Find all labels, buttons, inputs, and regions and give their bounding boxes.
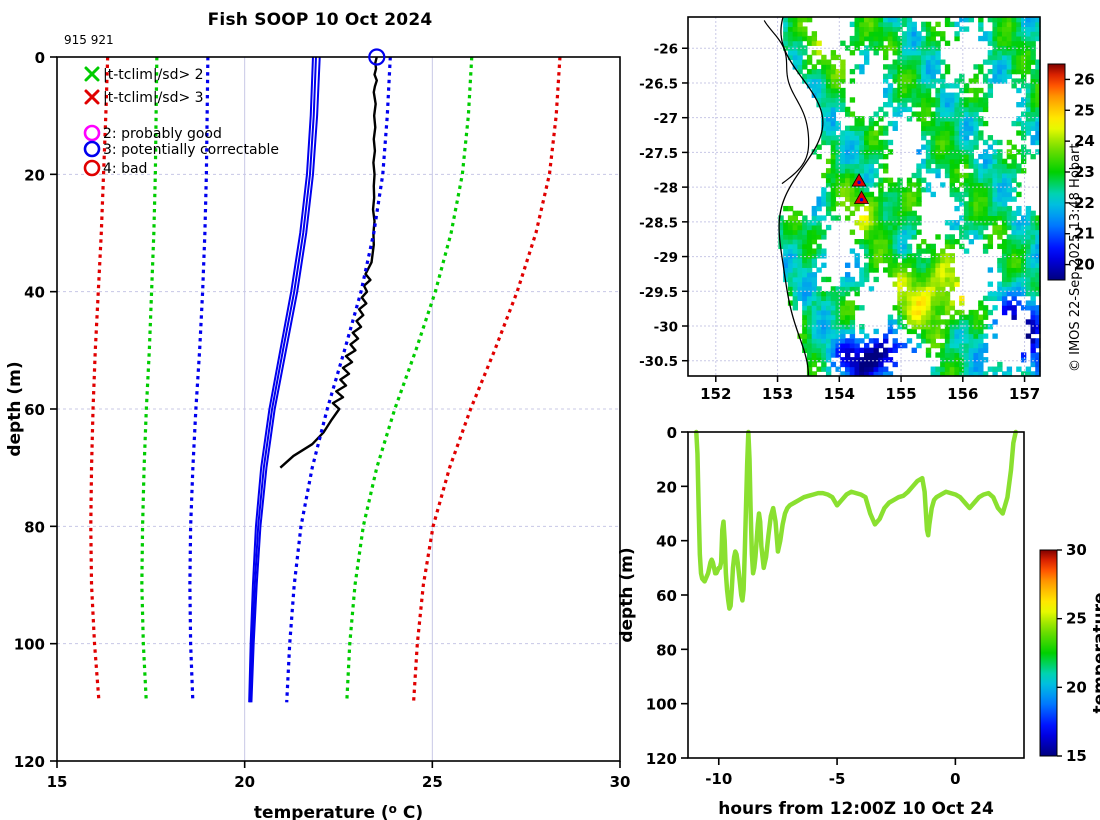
sst-pixel <box>945 244 950 249</box>
sst-pixel <box>916 36 921 41</box>
sst-pixel <box>916 253 921 258</box>
sst-pixel <box>783 36 788 41</box>
sst-pixel <box>883 26 888 31</box>
sst-pixel <box>921 286 926 291</box>
sst-pixel <box>854 206 859 211</box>
sst-pixel <box>797 220 802 225</box>
sst-pixel <box>902 187 907 192</box>
sst-pixel <box>940 277 945 282</box>
sst-pixel <box>783 239 788 244</box>
sst-pixel <box>807 348 812 353</box>
sst-pixel <box>916 244 921 249</box>
sst-pixel <box>807 41 812 46</box>
sst-pixel <box>1016 60 1021 65</box>
sst-pixel <box>835 310 840 315</box>
sst-pixel <box>969 310 974 315</box>
sst-pixel <box>854 352 859 357</box>
sst-pixel <box>1030 343 1035 348</box>
sst-pixel <box>888 211 893 216</box>
sst-pixel <box>912 201 917 206</box>
sst-pixel <box>954 367 959 372</box>
sst-pixel <box>1021 220 1026 225</box>
sst-pixel <box>883 258 888 263</box>
sst-pixel <box>988 244 993 249</box>
sst-pixel <box>874 367 879 372</box>
sst-pixel <box>835 296 840 301</box>
sst-pixel <box>878 154 883 159</box>
sst-pixel <box>1016 300 1021 305</box>
sst-pixel <box>983 178 988 183</box>
sst-pixel <box>959 352 964 357</box>
sst-pixel <box>821 315 826 320</box>
sst-pixel <box>950 220 955 225</box>
sst-pixel <box>888 178 893 183</box>
sst-pixel <box>1026 267 1031 272</box>
sst-pixel <box>797 239 802 244</box>
sst-pixel <box>893 230 898 235</box>
sst-pixel <box>1030 22 1035 27</box>
sst-pixel <box>883 74 888 79</box>
sst-pixel <box>940 130 945 135</box>
sst-pixel <box>912 97 917 102</box>
sst-pixel <box>988 163 993 168</box>
sst-pixel <box>988 310 993 315</box>
sst-pixel <box>988 88 993 93</box>
sst-pixel <box>835 168 840 173</box>
sst-pixel <box>840 135 845 140</box>
sst-pixel <box>897 178 902 183</box>
sst-pixel <box>926 310 931 315</box>
sst-pixel <box>926 159 931 164</box>
sst-pixel <box>831 55 836 60</box>
sst-pixel <box>950 343 955 348</box>
sst-pixel <box>874 41 879 46</box>
sst-pixel <box>921 126 926 131</box>
sst-pixel <box>988 41 993 46</box>
sst-pixel <box>935 296 940 301</box>
sst-pixel <box>964 206 969 211</box>
sst-map-panel: 152153154155156157-26-26.5-27-27.5-28-28… <box>620 0 1100 420</box>
sst-pixel <box>921 258 926 263</box>
sst-pixel <box>802 333 807 338</box>
sst-pixel <box>883 357 888 362</box>
sst-pixel <box>988 234 993 239</box>
sst-pixel <box>950 102 955 107</box>
sst-pixel <box>1021 234 1026 239</box>
sst-pixel <box>1007 206 1012 211</box>
sst-pixel <box>878 253 883 258</box>
sst-pixel <box>797 258 802 263</box>
sst-pixel <box>1002 197 1007 202</box>
sst-pixel <box>931 253 936 258</box>
sst-pixel <box>950 282 955 287</box>
sst-pixel <box>945 173 950 178</box>
sst-pixel <box>935 329 940 334</box>
sst-pixel <box>988 93 993 98</box>
sst-pixel <box>883 140 888 145</box>
sst-pixel <box>969 107 974 112</box>
sst-pixel <box>945 83 950 88</box>
sst-pixel <box>964 154 969 159</box>
sst-pixel <box>1007 258 1012 263</box>
sst-pixel <box>969 154 974 159</box>
sst-pixel <box>926 282 931 287</box>
sst-pixel <box>831 126 836 131</box>
sst-pixel <box>983 187 988 192</box>
sst-pixel <box>1026 36 1031 41</box>
sst-pixel <box>931 60 936 65</box>
sst-pixel <box>1030 348 1035 353</box>
sst-pixel <box>874 111 879 116</box>
sst-pixel <box>802 248 807 253</box>
sst-pixel <box>1026 230 1031 235</box>
sst-pixel <box>874 206 879 211</box>
sst-pixel <box>921 163 926 168</box>
sst-pixel <box>802 300 807 305</box>
sst-pixel <box>835 300 840 305</box>
sst-pixel <box>883 230 888 235</box>
sst-pixel <box>959 74 964 79</box>
sst-pixel <box>954 163 959 168</box>
sst-pixel <box>845 310 850 315</box>
sst-pixel <box>969 324 974 329</box>
sst-pixel <box>864 55 869 60</box>
sst-pixel <box>983 348 988 353</box>
sst-pixel <box>1007 168 1012 173</box>
sst-pixel <box>964 338 969 343</box>
sst-pixel <box>864 272 869 277</box>
sst-pixel <box>978 178 983 183</box>
sst-pixel <box>954 159 959 164</box>
sst-pixel <box>950 324 955 329</box>
sst-pixel <box>916 263 921 268</box>
sst-pixel <box>964 315 969 320</box>
station-marker-2-centre <box>860 198 863 201</box>
sst-pixel <box>964 192 969 197</box>
sst-pixel <box>883 102 888 107</box>
sst-pixel <box>897 225 902 230</box>
sst-pixel <box>831 315 836 320</box>
sst-pixel <box>840 97 845 102</box>
sst-pixel <box>826 300 831 305</box>
sst-pixel <box>826 173 831 178</box>
sst-pixel <box>840 296 845 301</box>
sst-pixel <box>1007 140 1012 145</box>
sst-pixel <box>845 329 850 334</box>
sst-pixel <box>854 22 859 27</box>
sst-pixel <box>950 272 955 277</box>
sst-pixel <box>1007 215 1012 220</box>
sst-pixel <box>797 60 802 65</box>
sst-pixel <box>854 163 859 168</box>
sst-pixel <box>959 121 964 126</box>
sst-pixel <box>826 305 831 310</box>
sst-pixel <box>926 111 931 116</box>
sst-pixel <box>859 159 864 164</box>
sst-pixel <box>997 154 1002 159</box>
sst-pixel <box>793 234 798 239</box>
sst-pixel <box>1002 258 1007 263</box>
sst-pixel <box>807 55 812 60</box>
sst-pixel <box>1030 111 1035 116</box>
sst-pixel <box>926 348 931 353</box>
sst-pixel <box>878 22 883 27</box>
sst-pixel <box>1030 286 1035 291</box>
sst-pixel <box>1002 22 1007 27</box>
sst-pixel <box>921 93 926 98</box>
sst-pixel <box>912 83 917 88</box>
sst-pixel <box>973 145 978 150</box>
sst-pixel <box>864 263 869 268</box>
sst-pixel <box>840 178 845 183</box>
sst-pixel <box>916 88 921 93</box>
sst-pixel <box>950 116 955 121</box>
sst-pixel <box>783 234 788 239</box>
sst-pixel <box>912 329 917 334</box>
sst-pixel <box>840 69 845 74</box>
sst-pixel <box>902 324 907 329</box>
sst-pixel <box>835 140 840 145</box>
sst-pixel <box>931 74 936 79</box>
sst-pixel <box>878 178 883 183</box>
sst-pixel <box>797 244 802 249</box>
sst-pixel <box>1002 277 1007 282</box>
sst-pixel <box>1016 88 1021 93</box>
sst-pixel <box>1026 263 1031 268</box>
sst-pixel <box>973 130 978 135</box>
sst-pixel <box>840 324 845 329</box>
sst-pixel <box>831 329 836 334</box>
sst-pixel <box>916 258 921 263</box>
sst-pixel <box>992 22 997 27</box>
sst-pixel <box>893 74 898 79</box>
sst-pixel <box>992 36 997 41</box>
sst-pixel <box>959 159 964 164</box>
sst-pixel <box>845 197 850 202</box>
sst-pixel <box>969 225 974 230</box>
sst-pixel <box>921 267 926 272</box>
sst-pixel <box>883 253 888 258</box>
sst-pixel <box>983 93 988 98</box>
sst-pixel <box>783 26 788 31</box>
sst-pixel <box>1016 286 1021 291</box>
sst-pixel <box>997 64 1002 69</box>
sst-pixel <box>826 168 831 173</box>
sst-pixel <box>859 324 864 329</box>
sst-pixel <box>788 272 793 277</box>
sst-pixel <box>940 126 945 131</box>
sst-pixel <box>969 111 974 116</box>
sst-pixel <box>1030 126 1035 131</box>
sst-pixel <box>874 173 879 178</box>
sst-pixel <box>935 93 940 98</box>
sst-pixel <box>859 168 864 173</box>
sst-pixel <box>850 277 855 282</box>
sst-pixel <box>1007 244 1012 249</box>
sst-pixel <box>954 310 959 315</box>
sst-pixel <box>797 211 802 216</box>
sst-pixel <box>869 201 874 206</box>
sst-pixel <box>959 362 964 367</box>
sst-pixel <box>1026 277 1031 282</box>
sst-pixel <box>840 192 845 197</box>
sst-pixel <box>878 258 883 263</box>
sst-pixel <box>988 36 993 41</box>
sst-pixel <box>950 22 955 27</box>
sst-pixel <box>921 121 926 126</box>
sst-pixel <box>1030 83 1035 88</box>
sst-pixel <box>916 343 921 348</box>
sst-pixel <box>940 74 945 79</box>
sst-pixel <box>821 135 826 140</box>
sst-pixel <box>864 352 869 357</box>
sst-pixel <box>954 36 959 41</box>
sst-pixel <box>1030 36 1035 41</box>
sst-pixel <box>988 159 993 164</box>
degree-symbol: o <box>389 802 397 816</box>
sst-pixel <box>840 88 845 93</box>
sst-pixel <box>845 187 850 192</box>
sst-pixel <box>859 121 864 126</box>
sst-pixel <box>850 300 855 305</box>
sst-pixel <box>831 116 836 121</box>
sst-pixel <box>854 41 859 46</box>
sst-pixel <box>907 178 912 183</box>
sst-pixel <box>816 69 821 74</box>
sst-pixel <box>997 55 1002 60</box>
temperature-colorbar-tick-label: 25 <box>1066 610 1087 628</box>
sst-pixel <box>1030 352 1035 357</box>
sst-pixel <box>897 220 902 225</box>
sst-pixel <box>902 41 907 46</box>
sst-pixel <box>835 215 840 220</box>
sst-pixel <box>893 244 898 249</box>
sst-pixel <box>997 286 1002 291</box>
sst-pixel <box>916 102 921 107</box>
sst-pixel <box>983 154 988 159</box>
sst-pixel <box>802 305 807 310</box>
sst-pixel <box>931 258 936 263</box>
sst-pixel <box>916 296 921 301</box>
sst-pixel <box>964 352 969 357</box>
sst-pixel <box>812 239 817 244</box>
sst-pixel <box>897 41 902 46</box>
sst-pixel <box>807 333 812 338</box>
sst-pixel <box>992 154 997 159</box>
sst-pixel <box>935 116 940 121</box>
sst-pixel <box>845 324 850 329</box>
sst-pixel <box>835 173 840 178</box>
sst-pixel <box>1021 145 1026 150</box>
sst-pixel <box>950 93 955 98</box>
sst-pixel <box>788 22 793 27</box>
sst-pixel <box>969 206 974 211</box>
sst-pixel <box>859 154 864 159</box>
sst-pixel <box>807 253 812 258</box>
sst-pixel <box>940 296 945 301</box>
sst-pixel <box>931 319 936 324</box>
ts-xtick-label: -5 <box>829 770 846 788</box>
sst-pixel <box>854 187 859 192</box>
sst-pixel <box>926 102 931 107</box>
sst-pixel <box>978 333 983 338</box>
sst-pixel <box>840 145 845 150</box>
sst-pixel <box>788 234 793 239</box>
sst-pixel <box>988 50 993 55</box>
sst-pixel <box>983 121 988 126</box>
sst-pixel <box>954 126 959 131</box>
sst-pixel <box>821 367 826 372</box>
sst-pixel <box>878 201 883 206</box>
sst-pixel <box>973 88 978 93</box>
sst-pixel <box>983 159 988 164</box>
sst-pixel <box>902 197 907 202</box>
sst-pixel <box>874 357 879 362</box>
sst-pixel <box>1026 239 1031 244</box>
sst-pixel <box>973 201 978 206</box>
sst-pixel <box>859 220 864 225</box>
sst-pixel <box>850 140 855 145</box>
sst-pixel <box>926 267 931 272</box>
sst-pixel <box>1021 130 1026 135</box>
sst-pixel <box>864 367 869 372</box>
sst-pixel <box>926 83 931 88</box>
sst-pixel <box>835 69 840 74</box>
sst-pixel <box>935 159 940 164</box>
sst-pixel <box>893 248 898 253</box>
sst-pixel <box>926 107 931 112</box>
map-ytick-label: -30 <box>654 320 678 336</box>
sst-pixel <box>1011 22 1016 27</box>
sst-pixel <box>869 192 874 197</box>
sst-pixel <box>869 41 874 46</box>
sst-pixel <box>1021 286 1026 291</box>
sst-pixel <box>821 201 826 206</box>
sst-pixel <box>1011 258 1016 263</box>
sst-pixel <box>793 50 798 55</box>
sst-pixel <box>1030 324 1035 329</box>
sst-pixel <box>964 140 969 145</box>
sst-pixel <box>845 315 850 320</box>
sst-pixel <box>950 159 955 164</box>
sst-pixel <box>1026 116 1031 121</box>
sst-pixel <box>1007 74 1012 79</box>
sst-pixel <box>964 83 969 88</box>
sst-pixel <box>945 163 950 168</box>
sst-pixel <box>926 50 931 55</box>
sst-pixel <box>959 107 964 112</box>
sst-pixel <box>973 211 978 216</box>
sst-pixel <box>888 234 893 239</box>
sst-pixel <box>835 286 840 291</box>
sst-pixel <box>959 244 964 249</box>
sst-pixel <box>902 315 907 320</box>
sst-pixel <box>869 220 874 225</box>
sst-pixel <box>945 111 950 116</box>
sst-pixel <box>1026 220 1031 225</box>
sst-pixel <box>964 319 969 324</box>
sst-pixel <box>940 97 945 102</box>
sst-pixel <box>893 319 898 324</box>
sst-pixel <box>940 83 945 88</box>
sst-pixel <box>945 22 950 27</box>
sst-pixel <box>859 126 864 131</box>
sst-pixel <box>812 253 817 258</box>
sst-pixel <box>812 258 817 263</box>
sst-pixel <box>978 192 983 197</box>
sst-pixel <box>845 352 850 357</box>
sst-pixel <box>907 296 912 301</box>
